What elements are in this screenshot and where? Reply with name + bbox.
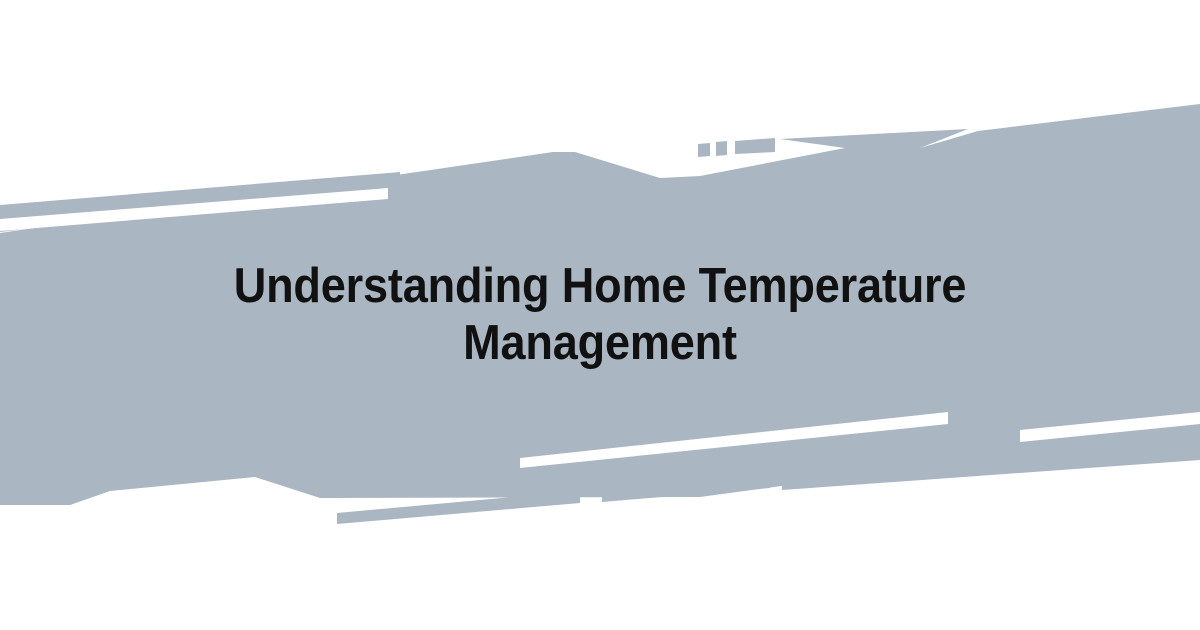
banner-main-shape [0, 104, 1200, 505]
top-dash-mark-3 [735, 138, 775, 154]
top-dash-mark-2 [716, 141, 727, 156]
banner-background-graphic [0, 0, 1200, 630]
banner-card: Understanding Home Temperature Managemen… [0, 0, 1200, 630]
top-dash-mark-1 [698, 143, 710, 157]
